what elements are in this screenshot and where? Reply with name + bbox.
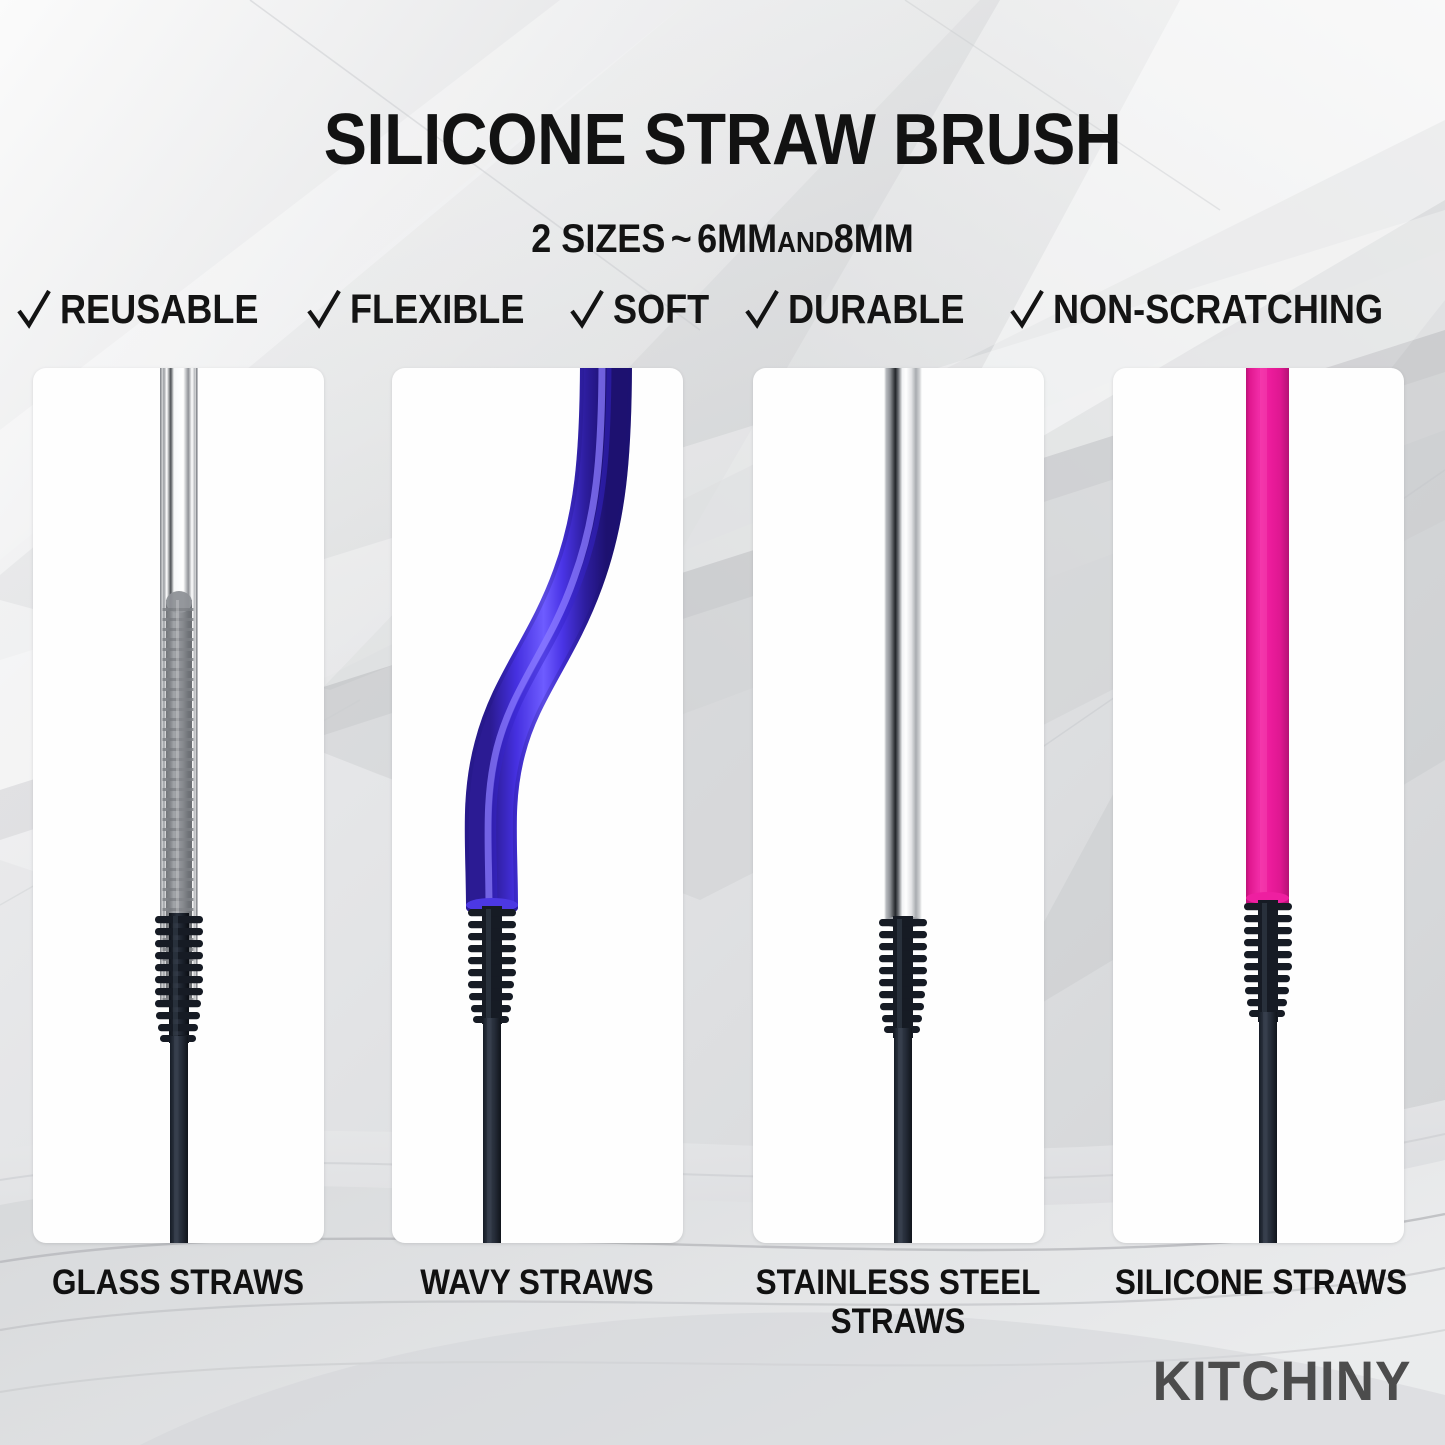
check-icon [745,288,779,330]
product-panel-silicone-straws[interactable] [1113,368,1404,1243]
subtitle-and: AND [777,227,834,259]
feature-label: NON-SCRATCHING [1053,289,1383,330]
page-title: SILICONE STRAW BRUSH [72,104,1373,176]
feature-label: SOFT [613,289,709,330]
check-icon [307,288,341,330]
subtitle-size-2: 8MM [834,217,914,261]
wavy-straw-image [392,368,683,1243]
feature-list: REUSABLE FLEXIBLE SOFT DURABLE NON-SCRAT… [0,288,1445,330]
glass-straw-image [33,368,324,1243]
panel-caption-stainless-steel-straws: STAINLESS STEEL STRAWS [750,1263,1047,1341]
brand-logo: KITCHINY [1152,1353,1411,1409]
subtitle-prefix: 2 SIZES [531,217,665,261]
product-panel-wavy-straws[interactable] [392,368,683,1243]
feature-label: REUSABLE [60,289,258,330]
panel-caption-wavy-straws: WAVY STRAWS [389,1263,686,1302]
subtitle-tilde: ~ [665,217,697,261]
feature-item-durable: DURABLE [745,288,988,330]
panel-caption-glass-straws: GLASS STRAWS [30,1263,327,1302]
subtitle: 2 SIZES~6MMAND8MM [72,216,1373,262]
feature-label: DURABLE [788,289,964,330]
feature-item-reusable: REUSABLE [17,288,286,330]
feature-item-non-scratching: NON-SCRATCHING [1010,288,1428,330]
stainless-steel-straw-image [753,368,1044,1243]
panel-caption-silicone-straws: SILICONE STRAWS [1110,1263,1412,1302]
check-icon [17,288,51,330]
feature-label: FLEXIBLE [350,289,524,330]
feature-item-flexible: FLEXIBLE [307,288,548,330]
product-panel-stainless-steel-straws[interactable] [753,368,1044,1243]
product-panel-glass-straws[interactable] [33,368,324,1243]
feature-item-soft: SOFT [570,288,722,330]
silicone-straw-image [1113,368,1404,1243]
check-icon [570,288,604,330]
check-icon [1010,288,1044,330]
subtitle-size-1: 6MM [697,217,777,261]
